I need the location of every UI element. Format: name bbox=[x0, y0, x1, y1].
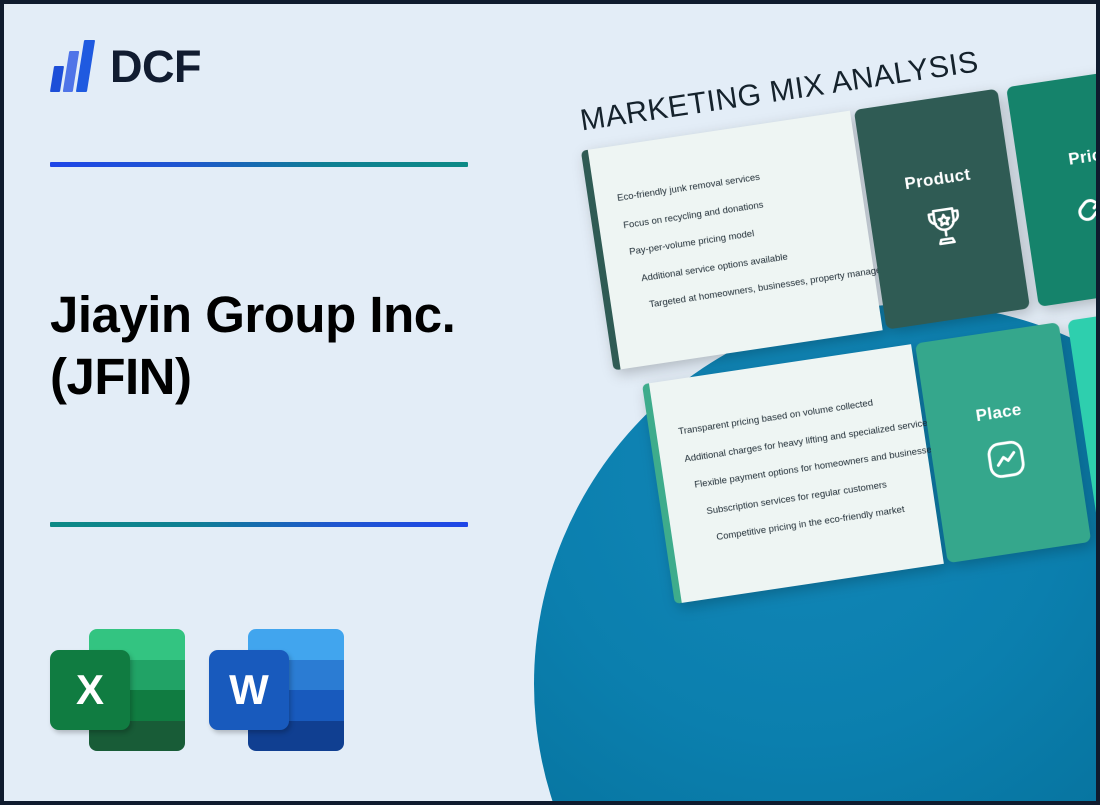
link-chain-icon bbox=[1071, 177, 1100, 229]
tile-price-label: Price bbox=[1067, 144, 1100, 170]
divider-bottom bbox=[50, 522, 468, 527]
bullet-card-price-details: Transparent pricing based on volume coll… bbox=[642, 344, 944, 604]
bullet-card-product: Eco-friendly junk removal services Focus… bbox=[581, 111, 883, 371]
dcf-bars-logo-icon bbox=[50, 40, 96, 92]
chart-line-square-icon bbox=[979, 433, 1031, 485]
page-title: Jiayin Group Inc. (JFIN) bbox=[50, 284, 540, 408]
tile-place[interactable]: Place bbox=[915, 322, 1091, 563]
marketing-mix-group: MARKETING MIX ANALYSIS Eco-friendly junk… bbox=[562, 24, 1100, 621]
file-format-icons: X W bbox=[50, 624, 344, 754]
tile-place-label: Place bbox=[974, 400, 1022, 427]
brand-name: DCF bbox=[110, 44, 201, 89]
divider-top bbox=[50, 162, 468, 167]
tile-product[interactable]: Product bbox=[854, 89, 1030, 330]
slide-canvas: DCF Jiayin Group Inc. (JFIN) X bbox=[0, 0, 1100, 805]
tile-product-label: Product bbox=[903, 165, 972, 195]
excel-letter: X bbox=[50, 650, 130, 730]
brand-logo[interactable]: DCF bbox=[50, 40, 201, 92]
word-file-icon[interactable]: W bbox=[209, 624, 344, 754]
left-panel: DCF Jiayin Group Inc. (JFIN) X bbox=[4, 4, 564, 805]
excel-file-icon[interactable]: X bbox=[50, 624, 185, 754]
word-letter: W bbox=[209, 650, 289, 730]
trophy-icon bbox=[918, 200, 970, 252]
